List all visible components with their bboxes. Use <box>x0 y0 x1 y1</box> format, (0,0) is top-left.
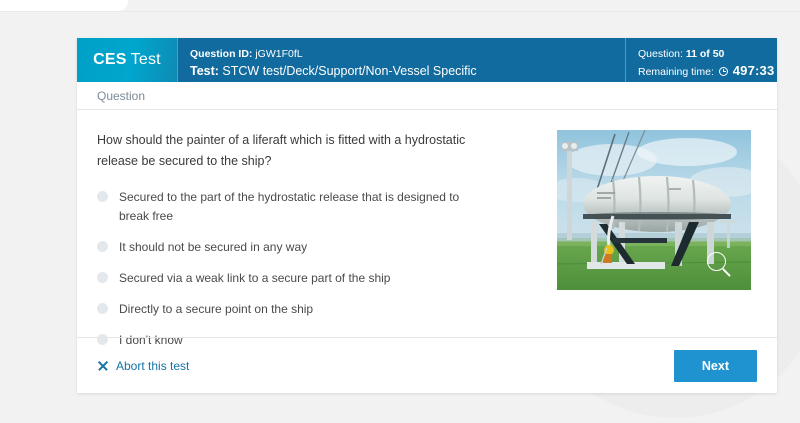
header-progress-info: Question: 11 of 50 Remaining time: 497:3… <box>625 38 777 82</box>
answer-option-label: It should not be secured in any way <box>119 238 307 257</box>
test-question-card: CES Test Question ID: jGW1F0fL Test: STC… <box>77 38 777 393</box>
radio-button-icon[interactable] <box>97 241 108 252</box>
question-text: How should the painter of a liferaft whi… <box>97 130 487 172</box>
question-counter-value: 11 of 50 <box>686 48 725 60</box>
media-column <box>557 130 757 362</box>
radio-button-icon[interactable] <box>97 191 108 202</box>
remaining-time-label: Remaining time: <box>638 66 714 78</box>
brand-name-light: Test <box>131 51 161 69</box>
card-footer: Abort this test Next <box>77 337 777 393</box>
header-test-info: Question ID: jGW1F0fL Test: STCW test/De… <box>177 38 625 82</box>
question-counter-line: Question: 11 of 50 <box>638 47 777 61</box>
abort-test-label: Abort this test <box>116 359 189 373</box>
next-button[interactable]: Next <box>674 350 757 382</box>
answer-option[interactable]: Directly to a secure point on the ship <box>97 300 545 319</box>
question-id-label: Question ID: <box>190 48 252 60</box>
card-header: CES Test Question ID: jGW1F0fL Test: STC… <box>77 38 777 82</box>
question-id-line: Question ID: jGW1F0fL <box>190 47 625 61</box>
page-background-tab <box>0 0 128 11</box>
answer-option[interactable]: It should not be secured in any way <box>97 238 545 257</box>
close-x-icon <box>97 360 108 371</box>
question-image-thumbnail[interactable] <box>557 130 751 290</box>
answer-option-label: Directly to a secure point on the ship <box>119 300 313 319</box>
question-id-value: jGW1F0fL <box>255 48 302 60</box>
answer-options-list: Secured to the part of the hydrostatic r… <box>97 188 545 350</box>
magnifier-handle <box>722 268 730 276</box>
abort-test-link[interactable]: Abort this test <box>97 359 189 373</box>
brand-name-bold: CES <box>93 51 127 69</box>
question-counter-label: Question: <box>638 48 683 60</box>
answer-option[interactable]: Secured to the part of the hydrostatic r… <box>97 188 545 226</box>
test-name-line: Test: STCW test/Deck/Support/Non-Vessel … <box>190 63 625 79</box>
radio-button-icon[interactable] <box>97 272 108 283</box>
test-label: Test: <box>190 64 219 78</box>
magnifier-icon[interactable] <box>707 252 733 278</box>
page-background-divider <box>0 11 800 12</box>
tab-bar: Question <box>77 82 777 110</box>
answer-option-label: Secured to the part of the hydrostatic r… <box>119 188 479 226</box>
answer-option[interactable]: Secured via a weak link to a secure part… <box>97 269 545 288</box>
question-column: How should the painter of a liferaft whi… <box>97 130 557 362</box>
card-body: How should the painter of a liferaft whi… <box>77 110 777 362</box>
remaining-time-line: Remaining time: 497:33 <box>638 64 777 79</box>
remaining-time-value: 497:33 <box>733 63 775 78</box>
answer-option-label: Secured via a weak link to a secure part… <box>119 269 390 288</box>
tab-question[interactable]: Question <box>97 89 145 103</box>
test-value: STCW test/Deck/Support/Non-Vessel Specif… <box>222 64 476 78</box>
brand-logo[interactable]: CES Test <box>77 38 177 82</box>
radio-button-icon[interactable] <box>97 303 108 314</box>
clock-icon <box>719 67 728 76</box>
